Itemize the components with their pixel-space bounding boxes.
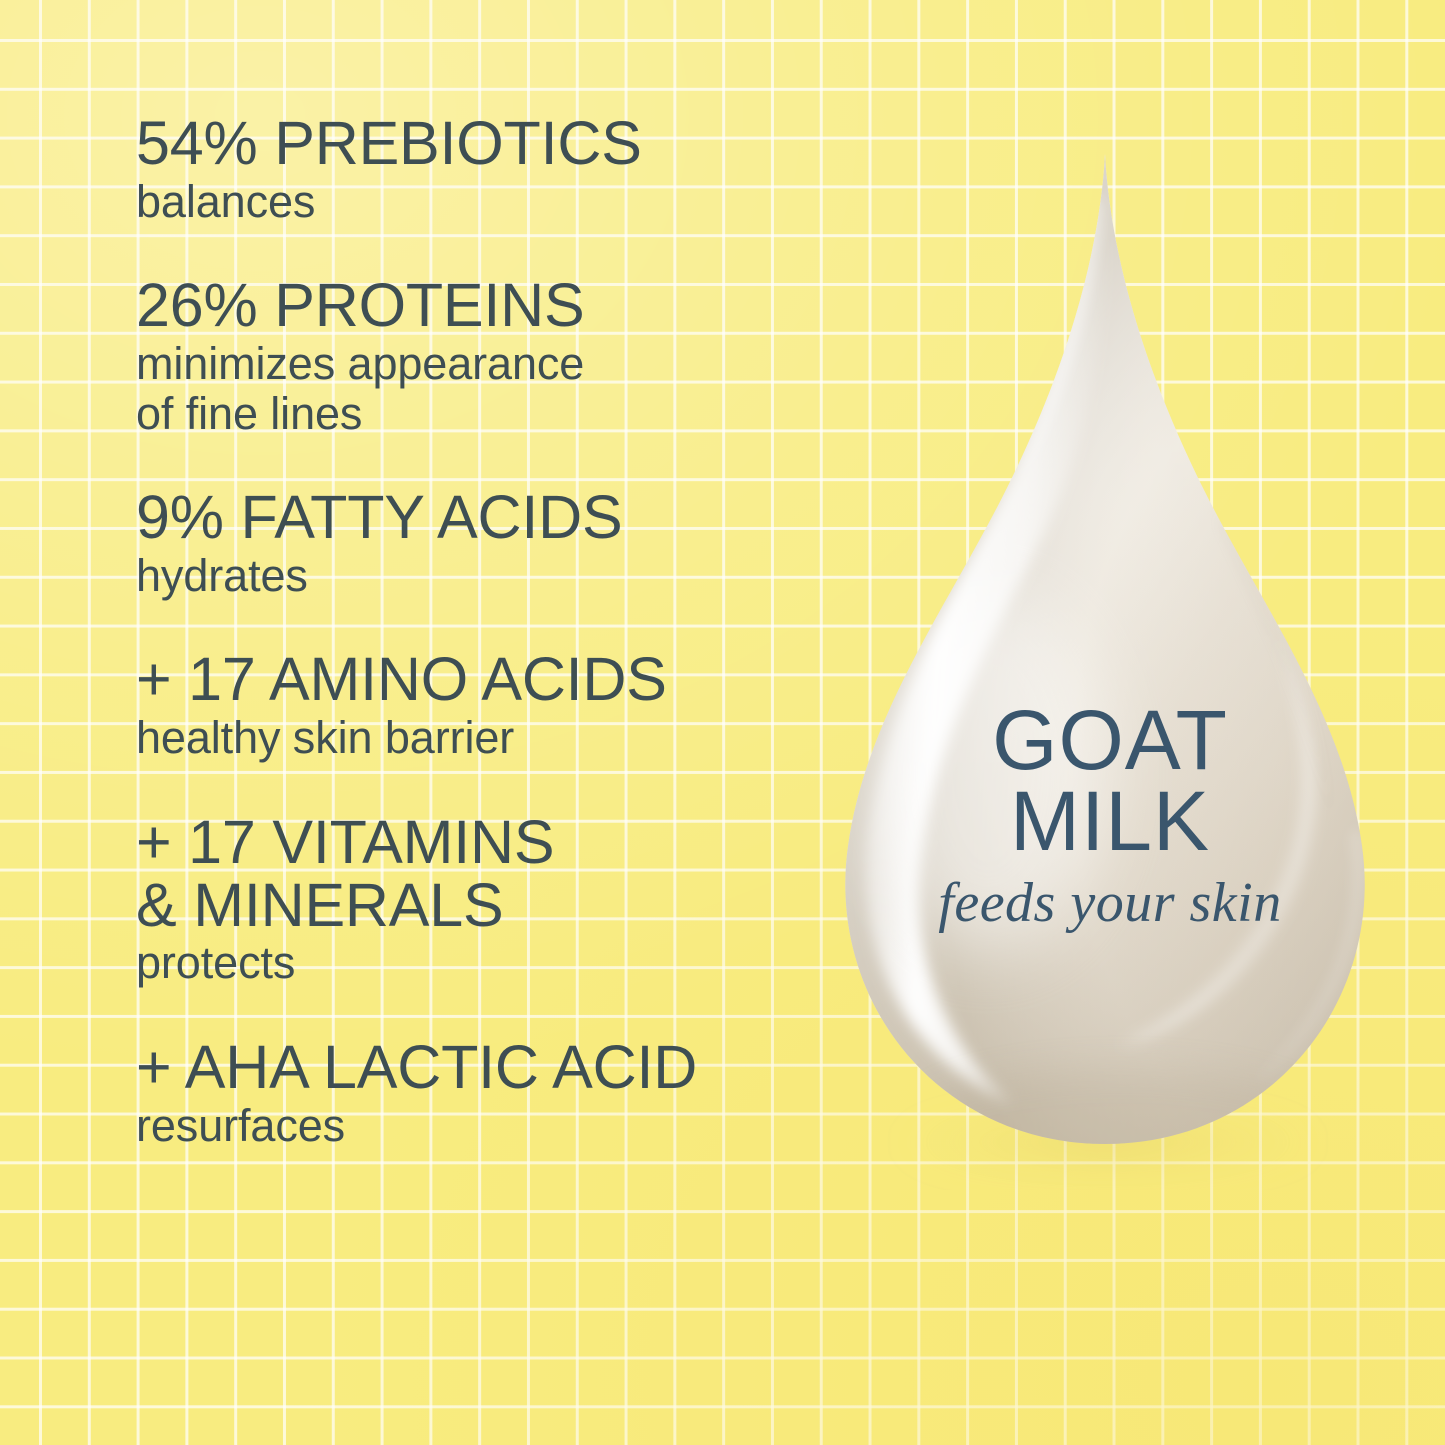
- milk-droplet-illustration: [800, 130, 1420, 1190]
- claim-headline: + AHA LACTIC ACID: [136, 1036, 826, 1099]
- ingredient-claims-list: 54% PREBIOTICS balances 26% PROTEINS min…: [136, 112, 826, 1150]
- claim-benefit: protects: [136, 938, 826, 988]
- claim-headline: 54% PREBIOTICS: [136, 112, 826, 175]
- claim-vitamins-minerals: + 17 VITAMINS & MINERALS protects: [136, 811, 826, 988]
- claim-prebiotics: 54% PREBIOTICS balances: [136, 112, 826, 226]
- claim-benefit: minimizes appearance of fine lines: [136, 339, 826, 438]
- claim-fatty-acids: 9% FATTY ACIDS hydrates: [136, 486, 826, 600]
- droplet-body: [800, 130, 1420, 1190]
- claim-benefit: hydrates: [136, 551, 826, 601]
- claim-headline: + 17 AMINO ACIDS: [136, 648, 826, 711]
- claim-benefit: healthy skin barrier: [136, 713, 826, 763]
- claim-amino-acids: + 17 AMINO ACIDS healthy skin barrier: [136, 648, 826, 762]
- claim-aha-lactic-acid: + AHA LACTIC ACID resurfaces: [136, 1036, 826, 1150]
- claim-headline: 26% PROTEINS: [136, 274, 826, 337]
- claim-headline: + 17 VITAMINS & MINERALS: [136, 811, 826, 937]
- claim-headline: 9% FATTY ACIDS: [136, 486, 826, 549]
- goat-milk-benefits-graphic: 54% PREBIOTICS balances 26% PROTEINS min…: [0, 0, 1445, 1445]
- claim-benefit: resurfaces: [136, 1101, 826, 1151]
- droplet-soft-glow: [870, 590, 1106, 950]
- claim-benefit: balances: [136, 177, 826, 227]
- milk-droplet-icon: [800, 130, 1420, 1190]
- claim-proteins: 26% PROTEINS minimizes appearance of fin…: [136, 274, 826, 438]
